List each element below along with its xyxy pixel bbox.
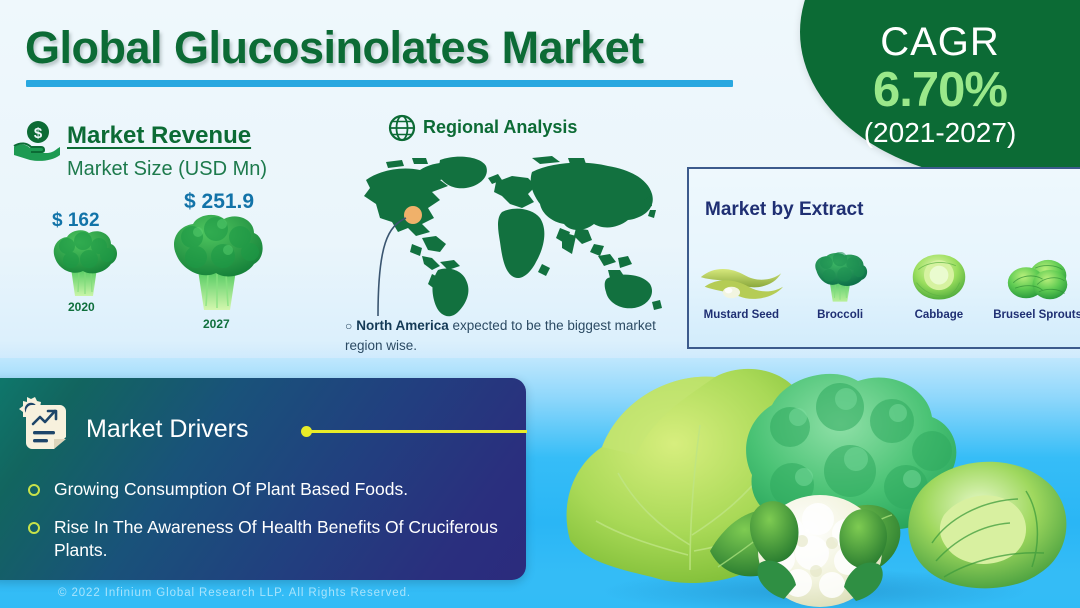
extract-item-broccoli[interactable]: Broccoli (793, 248, 888, 321)
globe-icon (388, 114, 416, 142)
extract-label: Mustard Seed (694, 309, 789, 321)
driver-text: Growing Consumption Of Plant Based Foods… (54, 478, 408, 502)
brussels-sprouts-icon (990, 248, 1080, 304)
market-drivers-list: Growing Consumption Of Plant Based Foods… (28, 478, 508, 577)
market-revenue-subtitle: Market Size (USD Mn) (67, 158, 267, 181)
cabbage-icon (891, 248, 986, 304)
vegetables-illustration (540, 355, 1080, 608)
extract-label: Bruseel Sprouts (990, 309, 1080, 321)
extract-item-cabbage[interactable]: Cabbage (891, 248, 986, 321)
cagr-badge: CAGR 6.70% (2021-2027) (800, 0, 1080, 180)
footer-copyright: © 2022 Infinium Global Research LLP. All… (58, 587, 411, 599)
note-region-label: North America (356, 318, 449, 333)
north-america-marker (404, 206, 422, 224)
extract-label: Cabbage (891, 309, 986, 321)
note-bullet-icon: ○ (345, 319, 352, 333)
revenue-year-2020: 2020 (68, 300, 95, 314)
title-underline (26, 80, 733, 87)
broccoli-icon (793, 248, 888, 304)
market-drivers-title: Market Drivers (86, 415, 249, 444)
cagr-years: (2021-2027) (864, 118, 1017, 149)
driver-text: Rise In The Awareness Of Health Benefits… (54, 516, 508, 563)
cagr-value: 6.70% (873, 62, 1007, 118)
market-by-extract-title: Market by Extract (705, 199, 863, 221)
regional-analysis-title: Regional Analysis (423, 117, 577, 138)
world-map (336, 152, 676, 320)
gear-report-icon (14, 395, 72, 451)
market-revenue-title: Market Revenue (67, 122, 251, 150)
bullet-ring-icon (28, 522, 40, 534)
mustard-seed-icon (694, 248, 789, 304)
revenue-year-2027: 2027 (203, 317, 230, 331)
market-by-extract-items: Mustard Seed (692, 248, 1080, 321)
cagr-label: CAGR (880, 22, 1000, 62)
page-title: Global Glucosinolates Market (25, 22, 644, 74)
hand-money-icon: $ (12, 117, 60, 165)
extract-label: Broccoli (793, 309, 888, 321)
infographic-canvas: Global Glucosinolates Market CAGR 6.70% … (0, 0, 1080, 608)
broccoli-icon-2020 (47, 228, 121, 298)
extract-item-mustard-seed[interactable]: Mustard Seed (694, 248, 789, 321)
extract-item-brussels-sprouts[interactable]: Bruseel Sprouts (990, 248, 1080, 321)
list-item: Rise In The Awareness Of Health Benefits… (28, 516, 508, 563)
list-item: Growing Consumption Of Plant Based Foods… (28, 478, 508, 502)
svg-text:$: $ (34, 125, 43, 142)
revenue-value-2027: $ 251.9 (184, 190, 254, 214)
drivers-divider-line (305, 430, 527, 433)
bullet-ring-icon (28, 484, 40, 496)
north-america-note: ○North America expected to be the bigges… (345, 316, 675, 355)
broccoli-icon-2027 (166, 212, 268, 314)
